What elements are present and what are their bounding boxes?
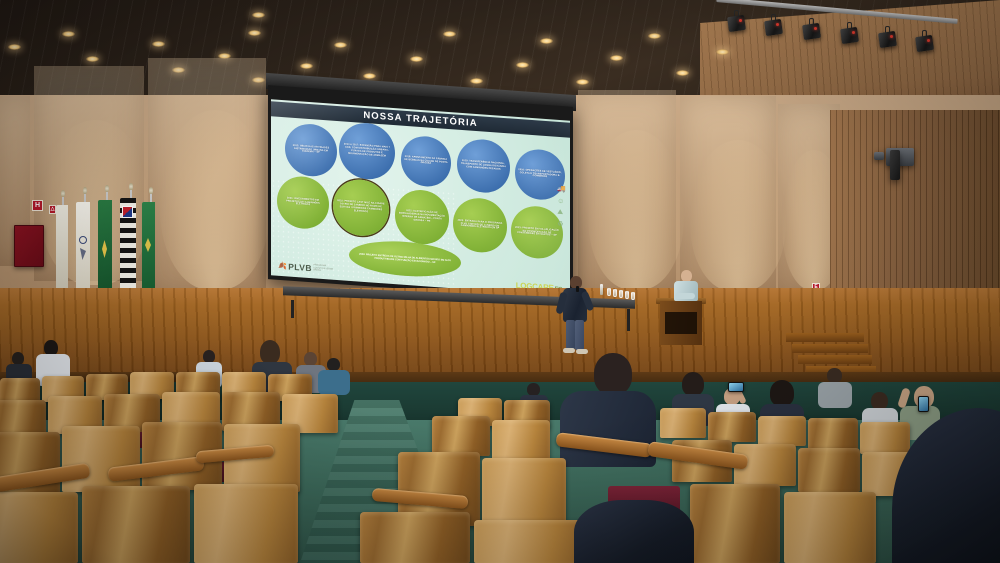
stage-step [786,333,864,342]
truck-icon: 🚚 [557,186,566,194]
downlight [410,56,423,62]
worker-icon: ☺ [557,197,566,205]
seat-back[interactable] [860,422,910,454]
microphone [576,286,579,292]
downlight [516,62,529,68]
slide-side-icons: 🚚 ☺ ⛰ ♻ [557,186,566,228]
wall-panel [148,58,266,296]
downlight [576,79,589,85]
fire-sign: △ [49,205,56,214]
downlight [8,44,21,50]
recycle-icon: ♻ [557,220,566,228]
warehouse-icon: ⛰ [557,209,566,217]
host-arms [675,293,695,299]
wall-speaker [890,150,900,180]
auditorium-photo: NOSSA TRAJETÓRIA 2013: INÍCIO DAS ATIVID… [0,0,1000,563]
seat-back[interactable] [708,412,756,442]
downlight [676,70,689,76]
timeline-bubble-2018: 2018: APONTAMENTO DA FÁBRICA DE BEBIDAS … [401,135,451,189]
plvb-logo-tagline: PROGRAMA LOGÍSTICA VERDE BRASIL [313,265,335,274]
presenter-leg-right [575,320,584,350]
seat-back[interactable] [492,420,550,460]
timeline-bubble-2023-plvb: 2023: ENTRADA PARA O PROGRAMA PLVB COM R… [453,196,507,254]
seat-back[interactable] [62,426,140,492]
host-at-podium [672,270,700,304]
leaf-icon: 🍂 [278,262,287,270]
timeline-bubble-2019: 2019: TRANSFERÊNCIA NACIONAL, TRANSPORTE… [457,138,510,195]
water-glass [625,291,629,299]
audience-member [318,358,350,394]
downlight [86,56,99,62]
plvb-logo-text: PLVB [288,262,312,274]
flag-white-emblem [76,202,90,296]
stage-step [798,355,872,364]
podium-front-panel [665,312,697,334]
water-glass [613,289,617,297]
seat-back[interactable] [474,520,586,563]
hydrant-sign: H [32,200,43,211]
wall-panel [680,96,776,296]
downlight [248,30,261,36]
downlight [443,31,456,37]
presenter [556,276,594,358]
seat-back[interactable] [660,408,706,438]
downlight [334,42,347,48]
water-glass [631,292,635,300]
smartphone-recording[interactable] [728,382,744,392]
timeline-bubble-2014-2017: 2014 A 2017: EXPANSÃO PARA MAIS 7 CDS, C… [339,121,395,181]
water-glass [619,290,623,298]
seat-back[interactable] [82,486,190,563]
downlight [300,63,313,69]
presenter-leg-left [566,320,575,350]
table-leg [627,309,630,331]
seat-back[interactable] [798,448,860,492]
seat-back[interactable] [758,416,806,446]
downlight [610,55,623,61]
seat-back[interactable] [432,416,490,456]
timeline-bubble-2013: 2013: INÍCIO DAS ATIVIDADES DISTRIBUIÇÃO… [285,122,337,178]
timeline-bubble-2023-santos: 2023: PROJETO EM VIA APLICAÇÃO NA MOVIME… [511,204,563,260]
seat-back[interactable] [194,484,298,563]
flag-green-2 [142,202,155,294]
downlight [648,33,661,39]
seat-back[interactable] [808,418,858,450]
flag-sao-paulo [120,198,136,298]
wall-panel [578,90,676,295]
water-bottle [600,284,603,295]
flag-green-1 [98,200,112,298]
seat-back[interactable] [784,492,876,563]
flag-white-left [56,205,68,293]
seat-back[interactable] [0,492,78,563]
downlight [62,31,75,37]
smartphone-recording[interactable] [918,396,929,412]
downlight [252,12,265,18]
downlight [716,49,729,55]
presentation-slide: NOSSA TRAJETÓRIA 2013: INÍCIO DAS ATIVID… [271,99,570,296]
stage-step [792,344,868,353]
seat-back[interactable] [690,484,780,563]
audience-member [818,368,852,408]
table-leg [291,300,294,318]
seat-back[interactable] [360,512,470,563]
downlight [540,38,553,44]
projection-screen: NOSSA TRAJETÓRIA 2013: INÍCIO DAS ATIVID… [268,85,573,301]
foreground-seat-shadow [574,500,694,563]
speaker-bracket [874,152,884,160]
downlight [363,73,376,79]
water-glass [607,288,611,296]
fire-hose-cabinet [14,225,44,267]
downlight [470,78,483,84]
downlight [152,41,165,47]
